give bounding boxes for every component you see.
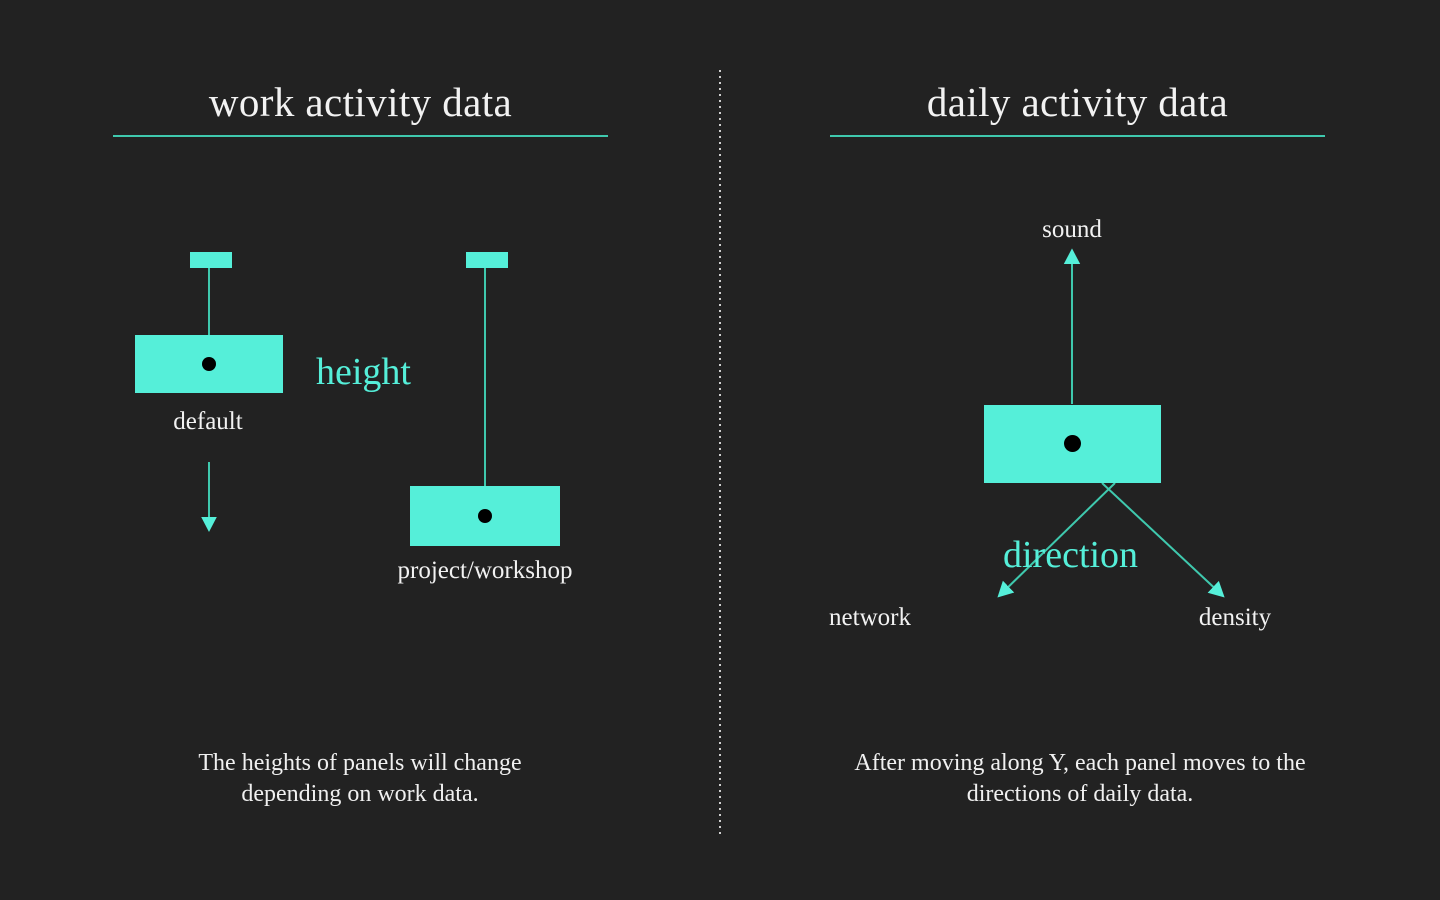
panel-center-dot-default (202, 357, 216, 371)
panel-stem-default (208, 268, 210, 336)
right-caption-line-1: After moving along Y, each panel moves t… (810, 748, 1350, 779)
node-label-project: project/workshop (385, 557, 585, 585)
panel-center-dot-project (478, 509, 492, 523)
right-section-title: daily activity data (830, 78, 1325, 126)
right-section: daily activity data sound network densit… (720, 0, 1440, 900)
panel-stem-project (484, 268, 486, 487)
left-caption-line-1: The heights of panels will change (110, 748, 610, 779)
right-title-underline (830, 135, 1325, 137)
left-caption-line-2: depending on work data. (110, 779, 610, 810)
right-caption: After moving along Y, each panel moves t… (810, 748, 1350, 810)
direction-accent-label: direction (1003, 533, 1138, 577)
direction-label-density: density (1135, 604, 1335, 632)
left-caption: The heights of panels will change depend… (110, 748, 610, 810)
left-section-title: work activity data (113, 78, 608, 126)
left-title-underline (113, 135, 608, 137)
diagram-canvas: work activity data default project/works… (0, 0, 1440, 900)
right-caption-line-2: directions of daily data. (810, 779, 1350, 810)
panel-center-dot-central (1064, 435, 1081, 452)
direction-label-network: network (770, 604, 970, 632)
left-section: work activity data default project/works… (0, 0, 720, 900)
panel-cap-project (466, 252, 508, 268)
direction-label-sound: sound (972, 216, 1172, 244)
height-accent-label: height (316, 350, 411, 394)
node-label-default: default (108, 408, 308, 436)
panel-cap-default (190, 252, 232, 268)
